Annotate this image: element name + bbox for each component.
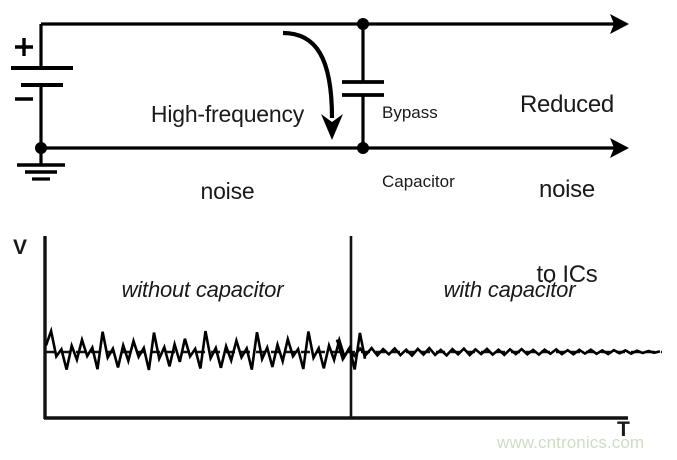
hf-noise-line-2: noise [130, 179, 325, 205]
reduced-noise-line-2: noise [508, 176, 626, 204]
bypass-cap-line-2: Capacitor [382, 171, 455, 194]
figure-root: High-frequency noise Bypass Capacitor Re… [0, 0, 677, 460]
with-capacitor-annotation: with capacitor [412, 278, 607, 303]
hf-noise-line-1: High-frequency [130, 102, 325, 128]
bypass-cap-line-1: Bypass [382, 102, 455, 125]
reduced-noise-line-1: Reduced [508, 91, 626, 119]
bypass-capacitor-label: Bypass Capacitor [382, 56, 455, 240]
waveform-without-capacitor [46, 331, 365, 370]
chart-y-axis-label: V [13, 236, 27, 260]
high-frequency-noise-label: High-frequency noise [130, 50, 325, 256]
site-watermark: www.cntronics.com [497, 433, 644, 452]
without-capacitor-annotation: without capacitor [95, 278, 310, 303]
